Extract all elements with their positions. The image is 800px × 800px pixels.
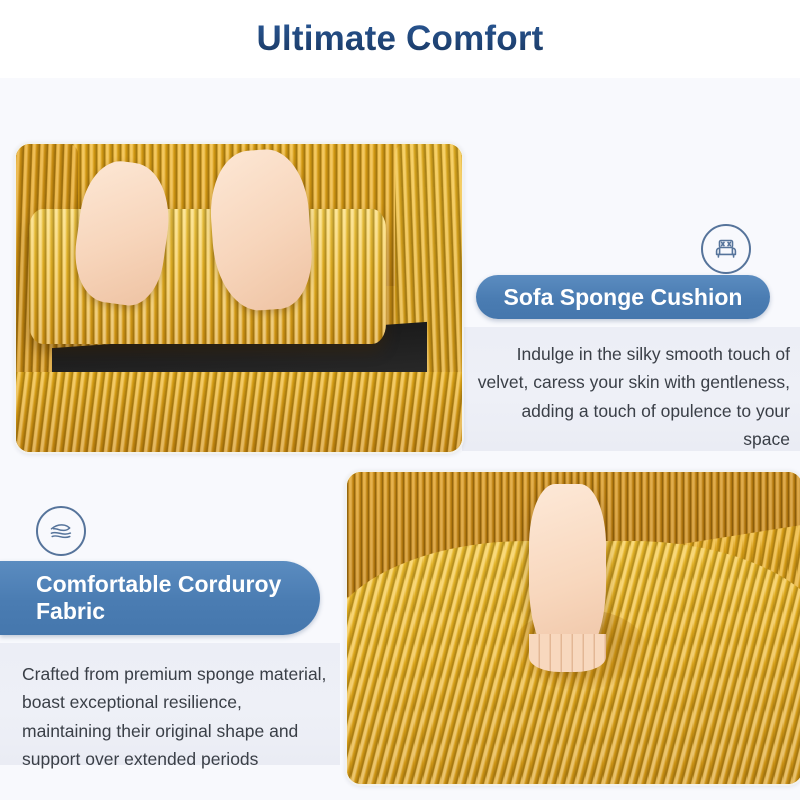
feature-description-1: Indulge in the silky smooth touch of vel… — [470, 340, 790, 453]
sofa-seat-base — [16, 372, 462, 452]
hand-over-waves-icon — [36, 506, 86, 556]
feature-description-2: Crafted from premium sponge material, bo… — [22, 660, 334, 773]
badge-label-line-2: Fabric — [36, 598, 281, 625]
page-title: Ultimate Comfort — [256, 19, 543, 59]
badge-label: Sofa Sponge Cushion — [504, 284, 743, 311]
badge-label-line-1: Comfortable Corduroy — [36, 571, 281, 598]
badge-sofa-sponge-cushion[interactable]: Sofa Sponge Cushion — [476, 275, 770, 319]
foot-pressing-corduroy-seat-photo — [345, 470, 800, 786]
hands-pressing-sofa-cushion-photo — [14, 142, 464, 454]
badge-comfortable-corduroy-fabric[interactable]: Comfortable Corduroy Fabric — [0, 561, 320, 635]
toes — [529, 634, 606, 671]
armchair-icon — [701, 224, 751, 274]
product-infographic: Ultimate Comfort — [0, 0, 800, 800]
header-band: Ultimate Comfort — [0, 0, 800, 78]
